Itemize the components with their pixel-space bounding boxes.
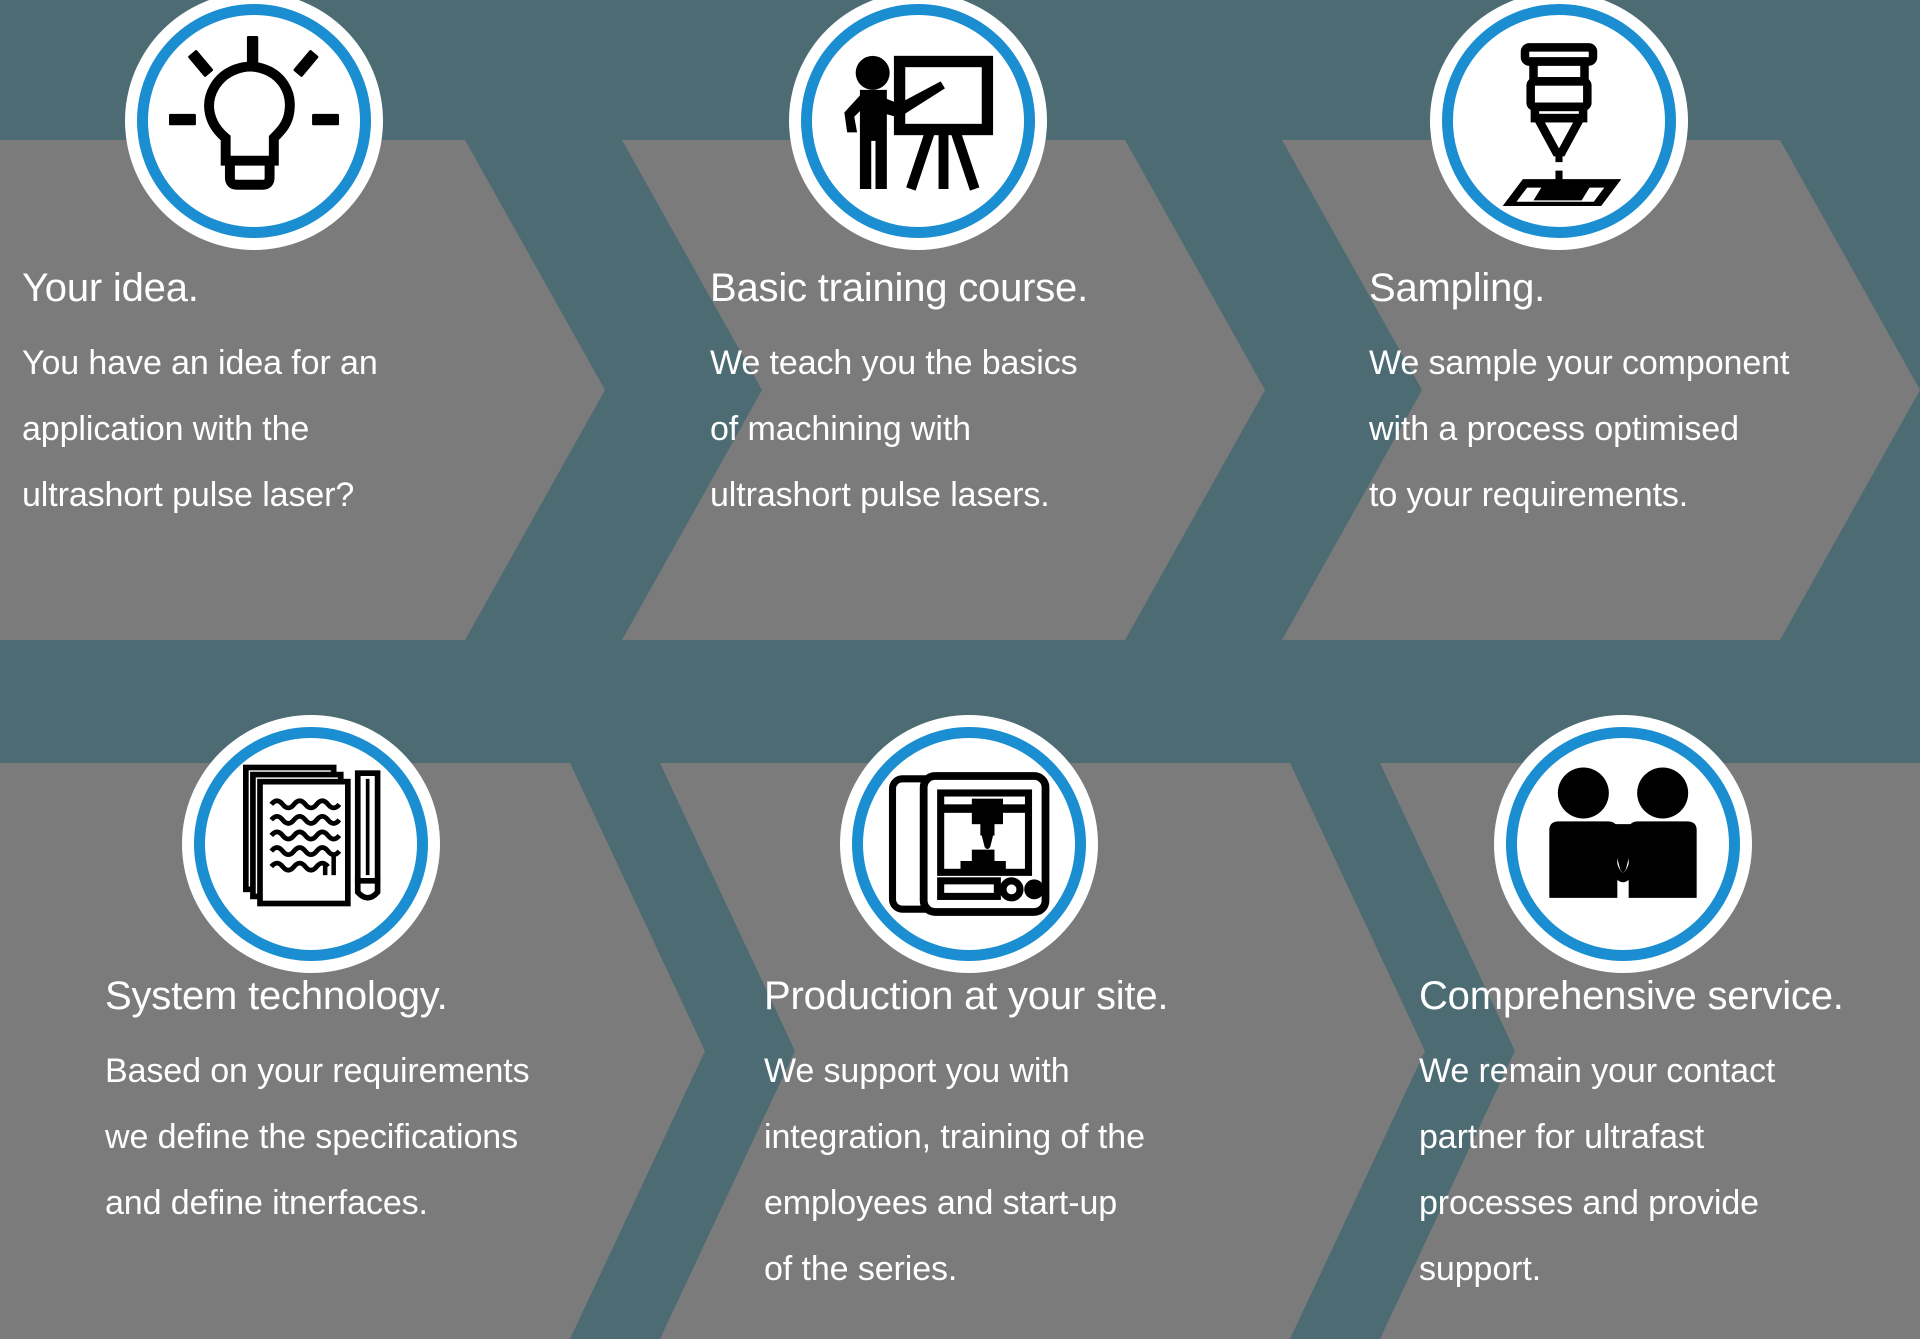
step-2-body: We teach you the basics of machining wit…	[710, 330, 1088, 528]
process-infographic: Your idea. You have an idea for an appli…	[0, 0, 1920, 1339]
step-1-title: Your idea.	[22, 268, 378, 308]
document-pencil-icon	[226, 759, 396, 929]
step-1-icon-badge	[125, 0, 383, 250]
lightbulb-icon	[169, 36, 339, 206]
step-5-text: Production at your site. We support you …	[764, 976, 1168, 1302]
step-2-text: Basic training course. We teach you the …	[710, 268, 1088, 528]
step-5-icon-badge	[840, 715, 1098, 973]
step-3-title: Sampling.	[1369, 268, 1789, 308]
step-5-body: We support you with integration, trainin…	[764, 1038, 1168, 1302]
step-1-text: Your idea. You have an idea for an appli…	[22, 268, 378, 528]
step-3-icon-badge	[1430, 0, 1688, 250]
step-6-icon-badge	[1494, 715, 1752, 973]
training-presenter-icon	[833, 36, 1003, 206]
step-2-icon-badge	[789, 0, 1047, 250]
step-2-title: Basic training course.	[710, 268, 1088, 308]
step-5-title: Production at your site.	[764, 976, 1168, 1016]
step-4-title: System technology.	[105, 976, 530, 1016]
laser-sampling-icon	[1474, 36, 1644, 206]
step-4-text: System technology. Based on your require…	[105, 976, 530, 1236]
step-4-icon-badge	[182, 715, 440, 973]
step-6-text: Comprehensive service. We remain your co…	[1419, 976, 1844, 1302]
step-6-body: We remain your contact partner for ultra…	[1419, 1038, 1844, 1302]
step-1-body: You have an idea for an application with…	[22, 330, 378, 528]
step-6-title: Comprehensive service.	[1419, 976, 1844, 1016]
step-3-text: Sampling. We sample your component with …	[1369, 268, 1789, 528]
laser-machine-icon	[884, 759, 1054, 929]
step-3-body: We sample your component with a process …	[1369, 330, 1789, 528]
handshake-people-icon	[1538, 759, 1708, 929]
step-4-body: Based on your requirements we define the…	[105, 1038, 530, 1236]
